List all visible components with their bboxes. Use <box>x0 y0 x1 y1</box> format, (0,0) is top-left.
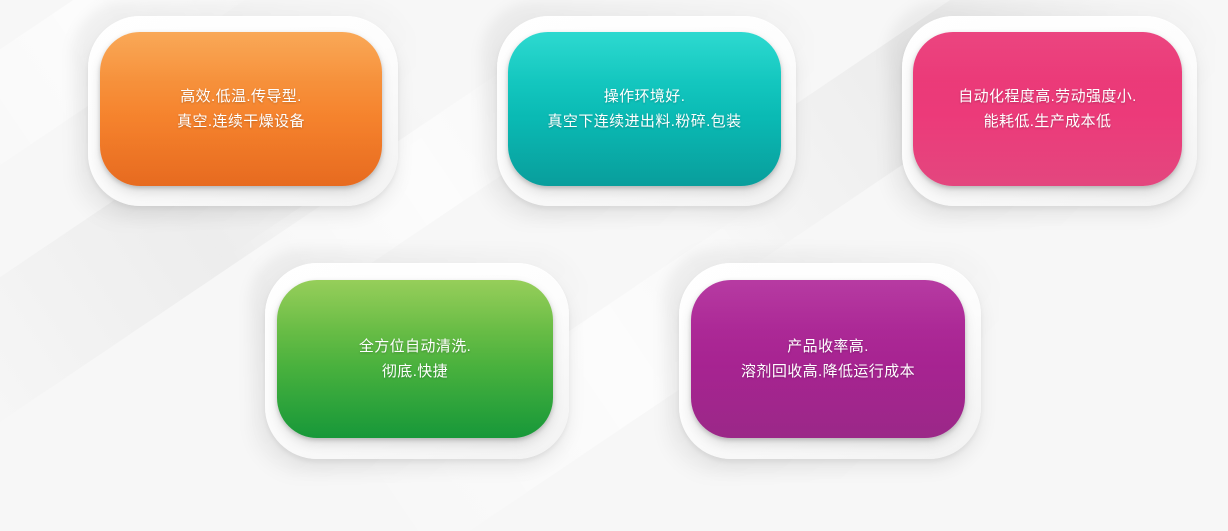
card-label: 自动化程度高.劳动强度小. 能耗低.生产成本低 <box>944 84 1151 134</box>
feature-card-environment[interactable]: 操作环境好. 真空下连续进出料.粉碎.包装 <box>497 16 796 206</box>
card-inner-panel[interactable]: 操作环境好. 真空下连续进出料.粉碎.包装 <box>508 32 781 186</box>
card-inner-panel[interactable]: 自动化程度高.劳动强度小. 能耗低.生产成本低 <box>913 32 1182 186</box>
card-label: 产品收率高. 溶剂回收高.降低运行成本 <box>727 334 929 384</box>
feature-card-cleaning[interactable]: 全方位自动清洗. 彻底.快捷 <box>265 263 569 459</box>
card-label: 全方位自动清洗. 彻底.快捷 <box>345 334 485 384</box>
card-inner-panel[interactable]: 高效.低温.传导型. 真空.连续干燥设备 <box>100 32 382 186</box>
feature-card-yield[interactable]: 产品收率高. 溶剂回收高.降低运行成本 <box>679 263 981 459</box>
feature-card-efficiency[interactable]: 高效.低温.传导型. 真空.连续干燥设备 <box>88 16 398 206</box>
feature-card-grid: 高效.低温.传导型. 真空.连续干燥设备 操作环境好. 真空下连续进出料.粉碎.… <box>0 0 1228 531</box>
feature-card-automation[interactable]: 自动化程度高.劳动强度小. 能耗低.生产成本低 <box>902 16 1197 206</box>
card-inner-panel[interactable]: 全方位自动清洗. 彻底.快捷 <box>277 280 553 438</box>
card-inner-panel[interactable]: 产品收率高. 溶剂回收高.降低运行成本 <box>691 280 965 438</box>
card-label: 高效.低温.传导型. 真空.连续干燥设备 <box>163 84 319 134</box>
card-label: 操作环境好. 真空下连续进出料.粉碎.包装 <box>534 84 756 134</box>
